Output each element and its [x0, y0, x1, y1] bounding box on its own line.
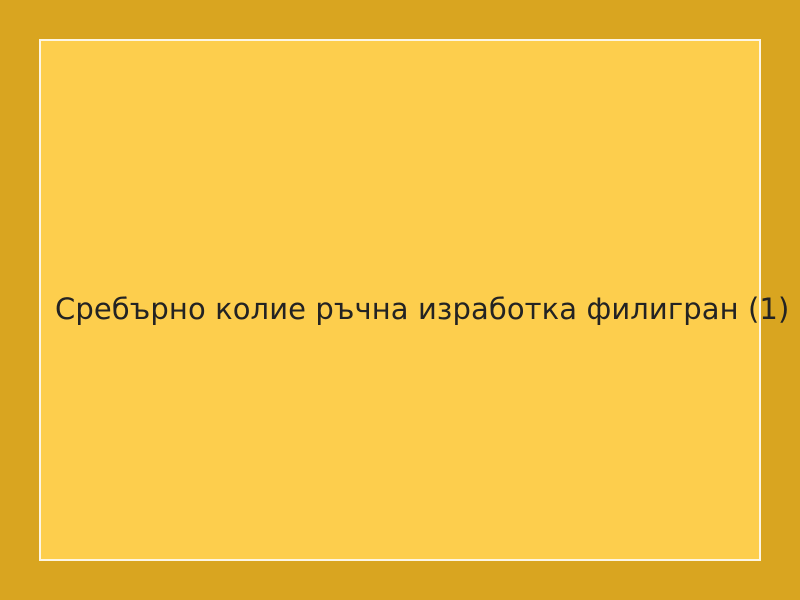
image-placeholder-panel: Сребърно колие ръчна изработка филигран … [39, 39, 761, 561]
caption-block: Сребърно колие ръчна изработка филигран … [41, 292, 759, 326]
placeholder-caption-text: Сребърно колие ръчна изработка филигран … [55, 292, 789, 326]
placeholder-canvas: Сребърно колие ръчна изработка филигран … [0, 0, 800, 600]
